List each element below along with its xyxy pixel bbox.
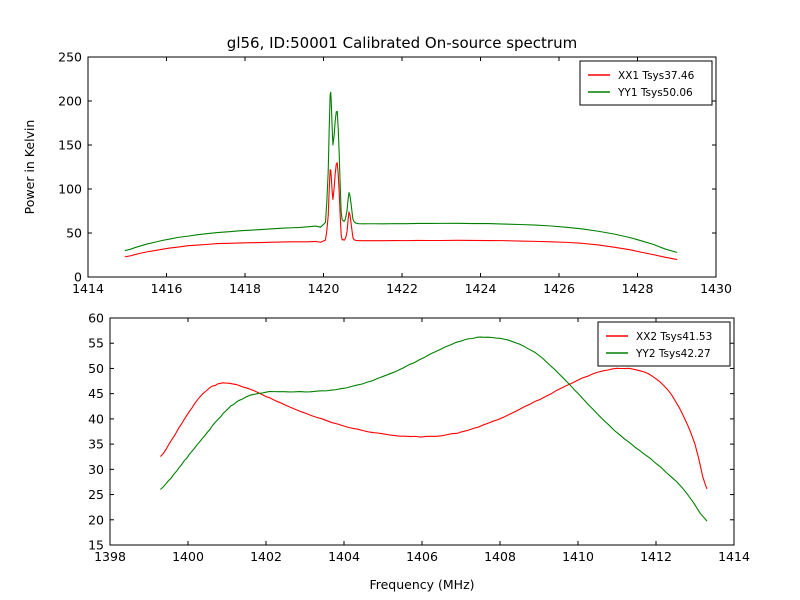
y-tick-label: 100: [58, 182, 82, 197]
y-tick-label: 60: [88, 311, 104, 326]
x-tick-label: 1424: [465, 281, 497, 296]
y-tick-label: 40: [88, 411, 104, 426]
x-tick-label: 1430: [700, 281, 732, 296]
x-tick-label: 1402: [250, 549, 282, 564]
y-tick-label: 45: [88, 386, 104, 401]
series-line-xx1: [125, 163, 676, 260]
y-tick-label: 0: [74, 270, 82, 285]
x-tick-label: 1410: [562, 549, 594, 564]
x-tick-label: 1422: [386, 281, 418, 296]
y-tick-label: 250: [58, 50, 82, 65]
series-line-xx2: [161, 368, 707, 488]
legend-label: YY2 Tsys42.27: [635, 348, 711, 360]
legend-label: YY1 Tsys50.06: [617, 87, 693, 99]
y-tick-label: 20: [88, 512, 104, 527]
page-title: gl56, ID:50001 Calibrated On-source spec…: [227, 34, 577, 52]
y-tick-label: 150: [58, 138, 82, 153]
x-axis-label: Frequency (MHz): [369, 577, 474, 592]
legend-label: XX2 Tsys41.53: [636, 331, 712, 343]
matplotlib-figure: gl56, ID:50001 Calibrated On-source spec…: [0, 0, 800, 600]
y-tick-label: 55: [88, 336, 104, 351]
y-tick-label: 30: [88, 462, 104, 477]
x-tick-label: 1428: [622, 281, 654, 296]
x-tick-label: 1412: [640, 549, 672, 564]
y-tick-label: 15: [88, 538, 104, 553]
series-line-yy1: [125, 92, 676, 252]
x-tick-label: 1416: [151, 281, 183, 296]
x-tick-label: 1426: [543, 281, 575, 296]
y-tick-label: 50: [66, 226, 82, 241]
x-tick-label: 1420: [308, 281, 340, 296]
y-tick-label: 35: [88, 437, 104, 452]
y-tick-label: 25: [88, 487, 104, 502]
x-tick-label: 1408: [484, 549, 516, 564]
spectrum-plot-canvas: gl56, ID:50001 Calibrated On-source spec…: [0, 0, 800, 600]
y-tick-label: 50: [88, 361, 104, 376]
x-tick-label: 1404: [328, 549, 360, 564]
x-tick-label: 1414: [718, 549, 750, 564]
y-tick-label: 200: [58, 94, 82, 109]
x-tick-label: 1418: [229, 281, 261, 296]
x-tick-label: 1400: [172, 549, 204, 564]
y-axis-label: Power in Kelvin: [22, 120, 37, 215]
x-tick-label: 1406: [406, 549, 438, 564]
legend-label: XX1 Tsys37.46: [618, 70, 695, 82]
